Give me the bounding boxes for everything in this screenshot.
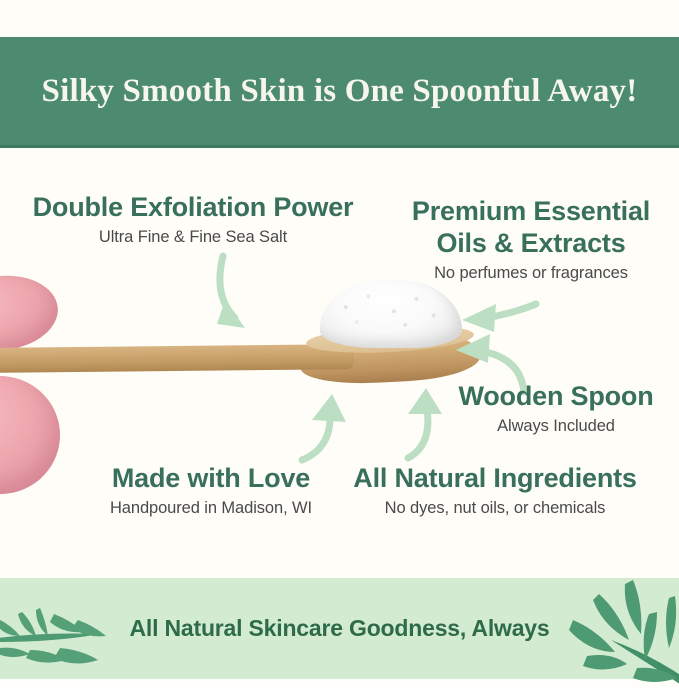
arrow-to-scrub-from-exfoliation: [205, 250, 305, 350]
page-title: Silky Smooth Skin is One Spoonful Away!: [42, 75, 638, 108]
feature-title: Made with Love: [80, 463, 342, 495]
finger-upper: [0, 270, 62, 355]
feature-subtitle: Ultra Fine & Fine Sea Salt: [8, 227, 378, 248]
feature-title: All Natural Ingredients: [345, 463, 645, 495]
feature-subtitle: Always Included: [440, 416, 672, 437]
feature-title: Premium Essential Oils & Extracts: [395, 196, 667, 260]
footer-banner: All Natural Skincare Goodness, Always: [0, 578, 679, 679]
feature-title: Double Exfoliation Power: [8, 192, 378, 224]
product-infographic: Silky Smooth Skin is One Spoonful Away! …: [0, 0, 679, 679]
feature-all-natural-ingredients: All Natural Ingredients No dyes, nut oil…: [345, 463, 645, 519]
feature-subtitle: Handpoured in Madison, WI: [80, 498, 342, 519]
header-banner: Silky Smooth Skin is One Spoonful Away!: [0, 37, 679, 148]
arrow-to-spoon-from-made-with-love: [278, 392, 358, 464]
leaf-branch-right-icon: [545, 568, 679, 688]
feature-essential-oils: Premium Essential Oils & Extracts No per…: [395, 196, 667, 284]
leaf-branch-left-icon: [0, 592, 146, 672]
feature-subtitle: No perfumes or fragrances: [395, 263, 667, 284]
feature-wooden-spoon: Wooden Spoon Always Included: [440, 381, 672, 437]
footer-tagline: All Natural Skincare Goodness, Always: [130, 615, 550, 642]
finger-lower: [0, 372, 64, 498]
salt-scrub-mound: [320, 280, 462, 348]
salt-grain-texture: [320, 280, 462, 348]
feature-exfoliation: Double Exfoliation Power Ultra Fine & Fi…: [8, 192, 378, 248]
feature-title: Wooden Spoon: [440, 381, 672, 413]
feature-made-with-love: Made with Love Handpoured in Madison, WI: [80, 463, 342, 519]
feature-subtitle: No dyes, nut oils, or chemicals: [345, 498, 645, 519]
